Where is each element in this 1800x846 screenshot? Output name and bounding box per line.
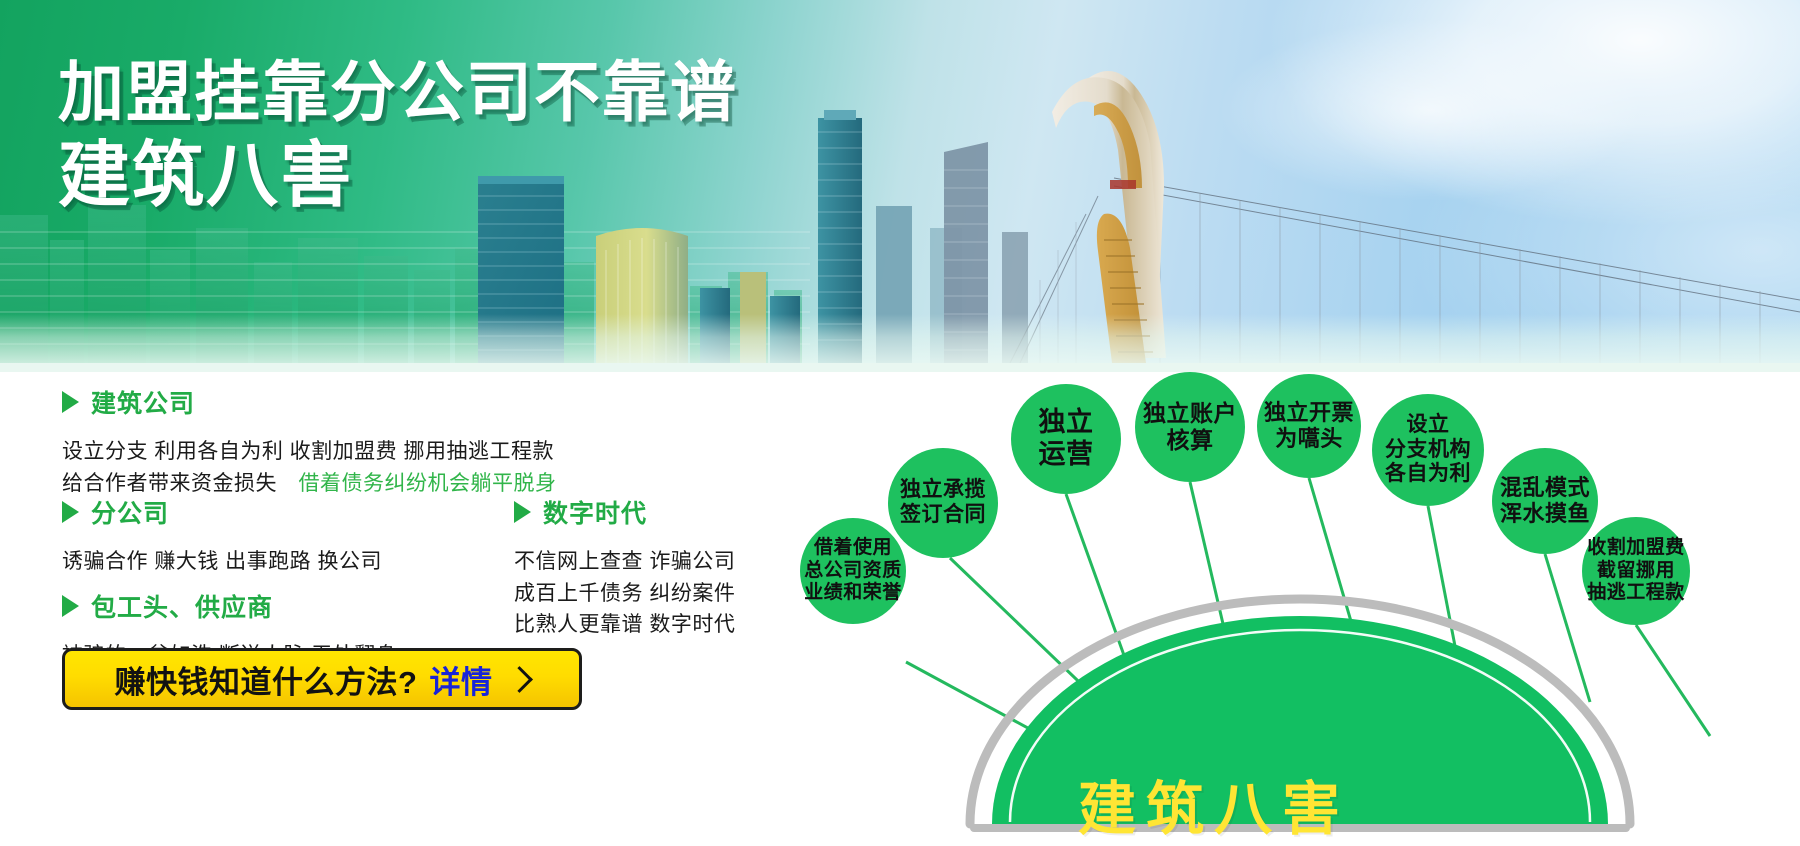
- bubble-node[interactable]: 独立 运营: [1011, 384, 1121, 494]
- bubble-node[interactable]: 独立承揽 签订合同: [888, 448, 998, 558]
- bubble-node[interactable]: 混乱模式 浑水摸鱼: [1492, 448, 1598, 554]
- bubble-node[interactable]: 设立 分支机构 各自为利: [1372, 394, 1484, 506]
- hero-banner: 加盟挂靠分公司不靠谱 建筑八害: [0, 0, 1800, 372]
- hero-title-line-1: 加盟挂靠分公司不靠谱: [58, 58, 738, 128]
- section-construction-company: 建筑公司 设立分支 利用各自为利 收割加盟费 挪用抽逃工程款 给合作者带来资金损…: [62, 384, 557, 499]
- section-line: 成百上千债务 纠纷案件: [514, 578, 735, 610]
- cta-detail-link[interactable]: 详情: [429, 657, 492, 702]
- section-header: 建筑公司: [62, 384, 557, 420]
- section-title: 分公司: [91, 494, 169, 530]
- section-title: 数字时代: [543, 494, 647, 530]
- section-header: 分公司: [62, 494, 382, 530]
- bubble-node[interactable]: 收割加盟费 截留挪用 抽逃工程款: [1582, 517, 1690, 625]
- cta-button[interactable]: 赚快钱知道什么方法? 详情: [62, 648, 582, 710]
- hero-title-line-2: 建筑八害: [58, 138, 738, 214]
- section-body: 诱骗合作 赚大钱 出事跑路 换公司: [62, 546, 382, 578]
- triangle-right-icon: [514, 501, 531, 523]
- section-branch-company: 分公司 诱骗合作 赚大钱 出事跑路 换公司: [62, 494, 382, 578]
- section-header: 数字时代: [514, 494, 735, 530]
- section-line: 不信网上查查 诈骗公司: [514, 546, 735, 578]
- section-title: 建筑公司: [91, 384, 195, 420]
- cta-question-label: 赚快钱知道什么方法?: [115, 657, 418, 702]
- section-title: 包工头、供应商: [91, 588, 273, 624]
- bubble-node[interactable]: 独立账户 核算: [1135, 372, 1245, 482]
- section-line: 诱骗合作 赚大钱 出事跑路 换公司: [62, 546, 382, 578]
- triangle-right-icon: [62, 595, 79, 617]
- triangle-right-icon: [62, 501, 79, 523]
- section-digital-era: 数字时代 不信网上查查 诈骗公司 成百上千债务 纠纷案件 比熟人更靠谱 数字时代: [514, 494, 735, 641]
- ground-strip: [0, 363, 1800, 372]
- section-body: 设立分支 利用各自为利 收割加盟费 挪用抽逃工程款 给合作者带来资金损失 借着债…: [62, 436, 557, 499]
- hero-title-group: 加盟挂靠分公司不靠谱 建筑八害: [58, 58, 738, 214]
- dome-title: 建筑八害: [1078, 762, 1350, 846]
- section-header: 包工头、供应商: [62, 588, 397, 624]
- highlight-text: 借着债务纠纷机会躺平脱身: [299, 472, 557, 495]
- section-body: 不信网上查查 诈骗公司 成百上千债务 纠纷案件 比熟人更靠谱 数字时代: [514, 546, 735, 641]
- bubble-node[interactable]: 独立开票 为嚆头: [1257, 374, 1361, 478]
- section-line: 设立分支 利用各自为利 收割加盟费 挪用抽逃工程款: [62, 436, 557, 468]
- section-line: 比熟人更靠谱 数字时代: [514, 609, 735, 641]
- eight-harms-diagram: 借着使用 总公司资质 业绩和荣誉 独立承揽 签订合同 独立 运营 独立账户 核算…: [800, 372, 1800, 844]
- content-area: 建筑公司 设立分支 利用各自为利 收割加盟费 挪用抽逃工程款 给合作者带来资金损…: [0, 372, 1800, 844]
- bubble-node[interactable]: 借着使用 总公司资质 业绩和荣誉: [800, 518, 906, 624]
- chevron-right-icon: [507, 666, 534, 693]
- triangle-right-icon: [62, 391, 79, 413]
